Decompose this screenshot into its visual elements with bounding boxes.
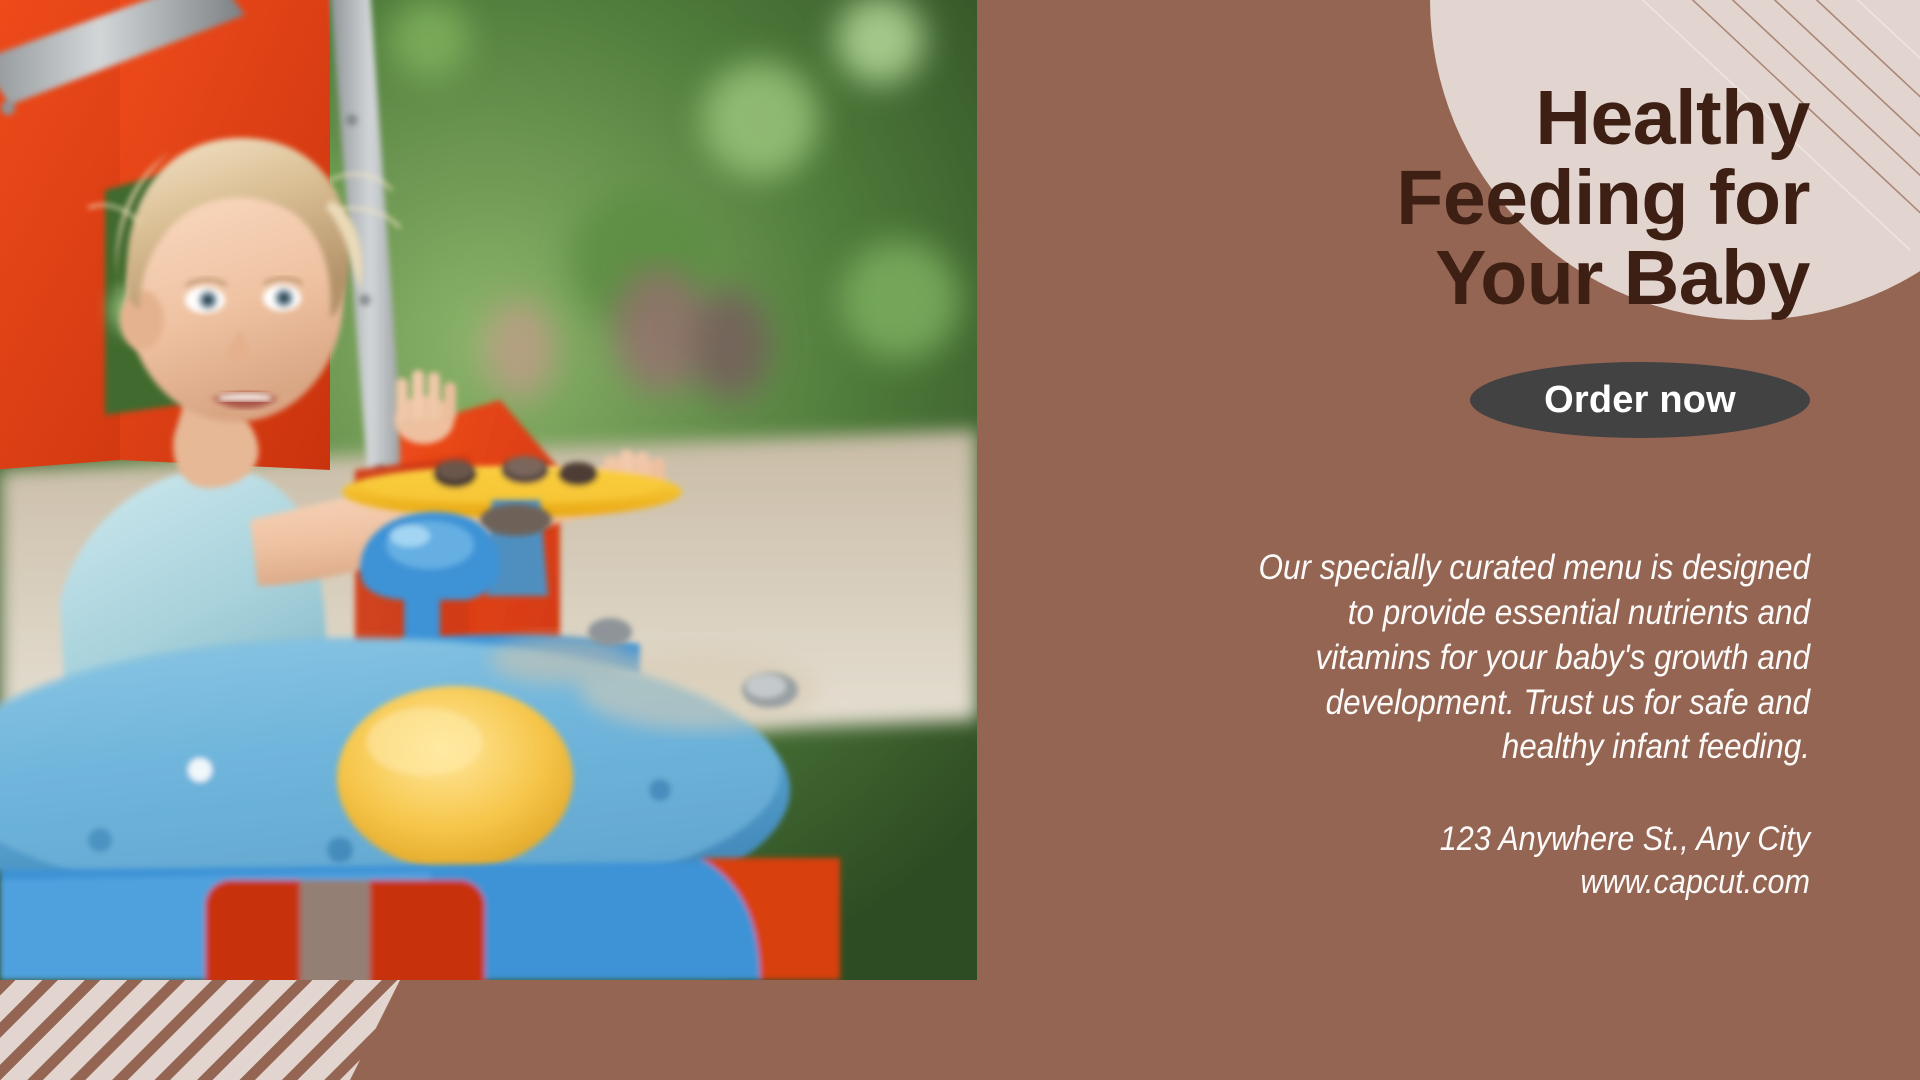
contact-website[interactable]: www.capcut.com xyxy=(1225,861,1810,904)
hero-photo xyxy=(0,0,977,980)
diagonal-stripes-decoration xyxy=(0,980,470,1080)
contact-address: 123 Anywhere St., Any City xyxy=(1225,818,1810,861)
content-column: Healthy Feeding for Your Baby Order now … xyxy=(1000,0,1810,1080)
order-now-button[interactable]: Order now xyxy=(1470,362,1810,438)
page-title: Healthy Feeding for Your Baby xyxy=(1396,78,1810,318)
poster-canvas: Healthy Feeding for Your Baby Order now … xyxy=(0,0,1920,1080)
contact-info: 123 Anywhere St., Any City www.capcut.co… xyxy=(1225,818,1810,904)
body-paragraph: Our specially curated menu is designed t… xyxy=(1225,546,1810,770)
cta-container: Order now xyxy=(1470,362,1810,438)
